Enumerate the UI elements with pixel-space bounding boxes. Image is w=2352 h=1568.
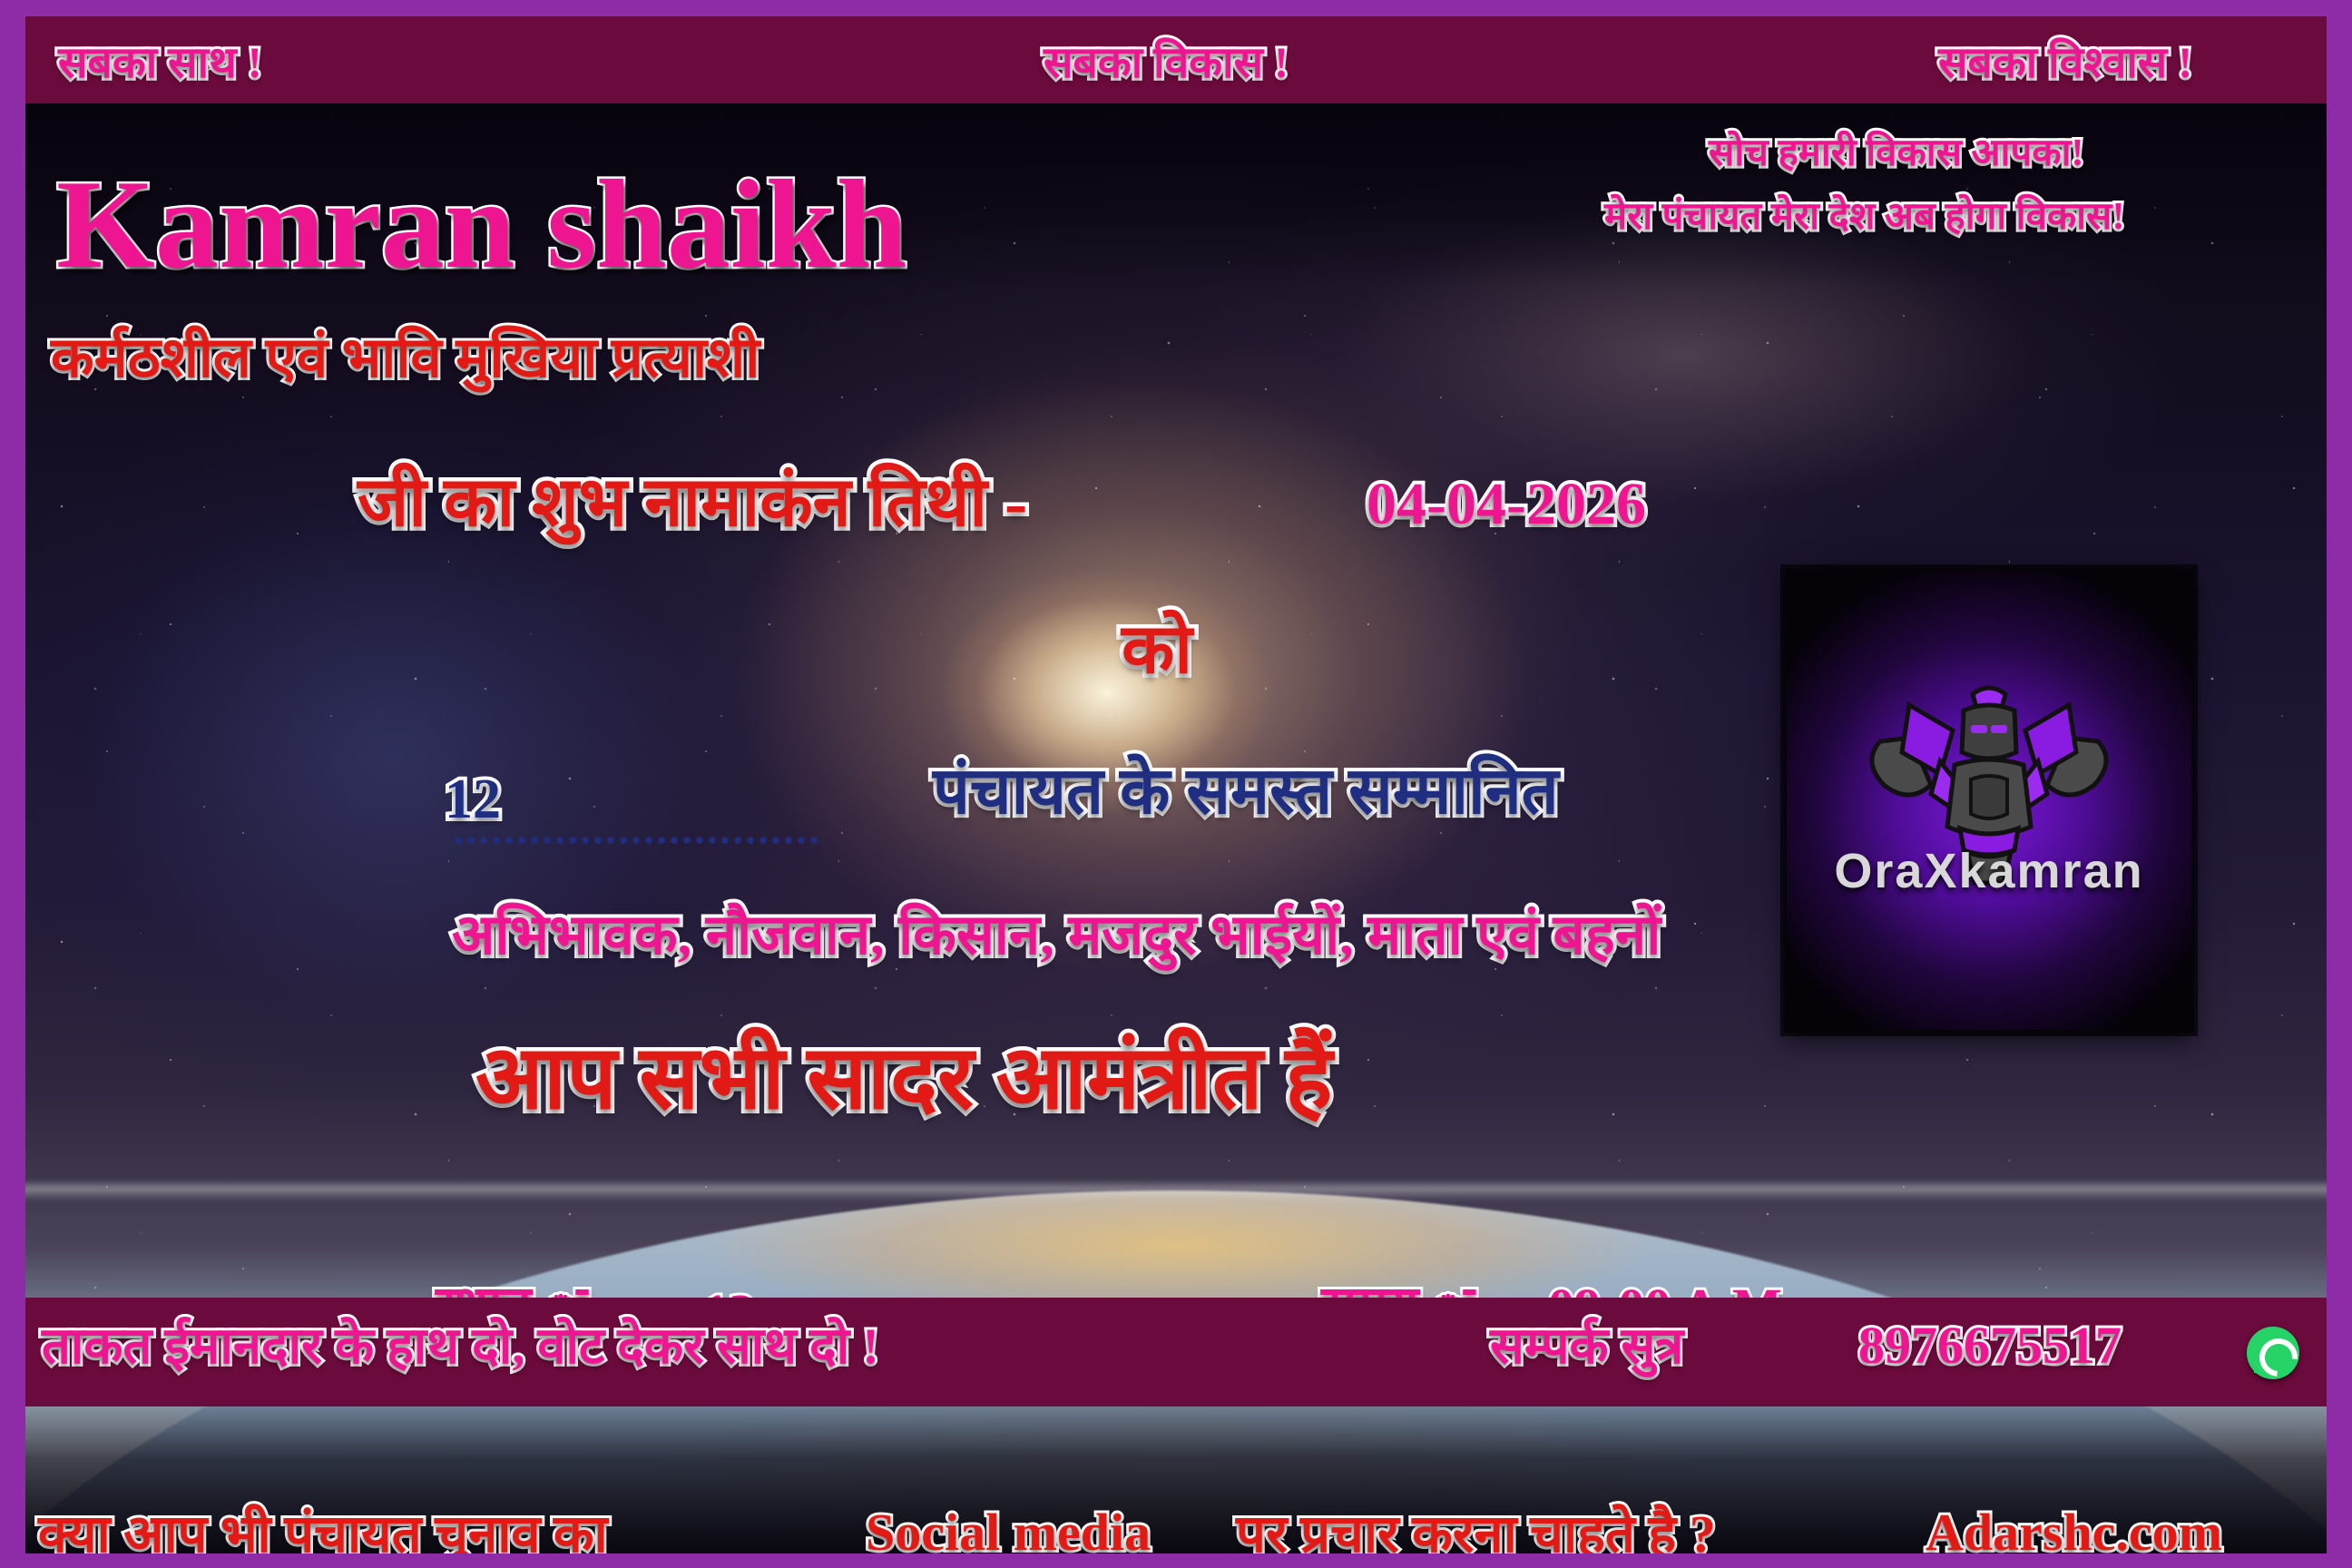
event-date-value: 04-04-2026 bbox=[1367, 475, 1646, 534]
event-panchayat-line: पंचायत के समस्त सम्मानित bbox=[933, 759, 1559, 824]
candidate-name: Kamran shaikh bbox=[56, 162, 906, 289]
footer-promo-mid: पर प्रचार करना चाहते है ? bbox=[1236, 1508, 1716, 1553]
logo-name: OraXkamran bbox=[1787, 843, 2191, 899]
slogan-sabka-saath: सबका साथ ! bbox=[58, 42, 262, 85]
top-slogan-band: सबका साथ ! सबका विकास ! सबका विश्वास ! bbox=[25, 16, 2327, 103]
footer-promo-site[interactable]: Adarshc.com bbox=[1926, 1506, 2222, 1553]
election-poster: सबका साथ ! सबका विकास ! सबका विश्वास ! स… bbox=[0, 0, 2352, 1568]
branding-logo-box: OraXkamran bbox=[1784, 568, 2194, 1033]
bottom-contact-band: ताकत ईमानदार के हाथ दो, वोट देकर साथ दो … bbox=[25, 1298, 2327, 1406]
footer-promo-pre: क्या आप भी पंचायत चुनाव का bbox=[38, 1508, 608, 1553]
contact-number[interactable]: 8976675517 bbox=[1858, 1319, 2122, 1372]
event-ko-word: को bbox=[1122, 615, 1192, 684]
footer-promo-highlight: Social media bbox=[866, 1506, 1151, 1553]
contact-label: सम्पर्क सुत्र bbox=[1490, 1321, 1683, 1372]
slogan-sabka-vishwas: सबका विश्वास ! bbox=[1938, 42, 2192, 85]
poster-artwork-area: सबका साथ ! सबका विकास ! सबका विश्वास ! स… bbox=[25, 16, 2327, 1553]
candidate-designation: कर्मठशील एवं भावि मुखिया प्रत्याशी bbox=[51, 330, 759, 387]
corner-slogan-line1: सोच हमारी विकास आपका! bbox=[1709, 134, 2083, 172]
bottom-slogan: ताकत ईमानदार के हाथ दो, वोट देकर साथ दो … bbox=[42, 1321, 879, 1372]
panchayat-number: 12 bbox=[445, 771, 501, 828]
whatsapp-icon[interactable] bbox=[2247, 1327, 2299, 1379]
corner-slogan-line2: मेरा पंचायत मेरा देश अब होगा विकास! bbox=[1604, 198, 2124, 236]
event-date-label: जी का शुभ नामाकंन तिथी - bbox=[358, 468, 1027, 537]
slogan-sabka-vikas: सबका विकास ! bbox=[1044, 42, 1289, 85]
event-audience-line: अभिभावक, नौजवान, किसान, मजदुर भाईयों, मा… bbox=[452, 907, 1661, 964]
panchayat-number-leader bbox=[452, 836, 820, 845]
event-invitation-line: आप सभी सादर आमंत्रीत हैं bbox=[475, 1034, 1332, 1123]
